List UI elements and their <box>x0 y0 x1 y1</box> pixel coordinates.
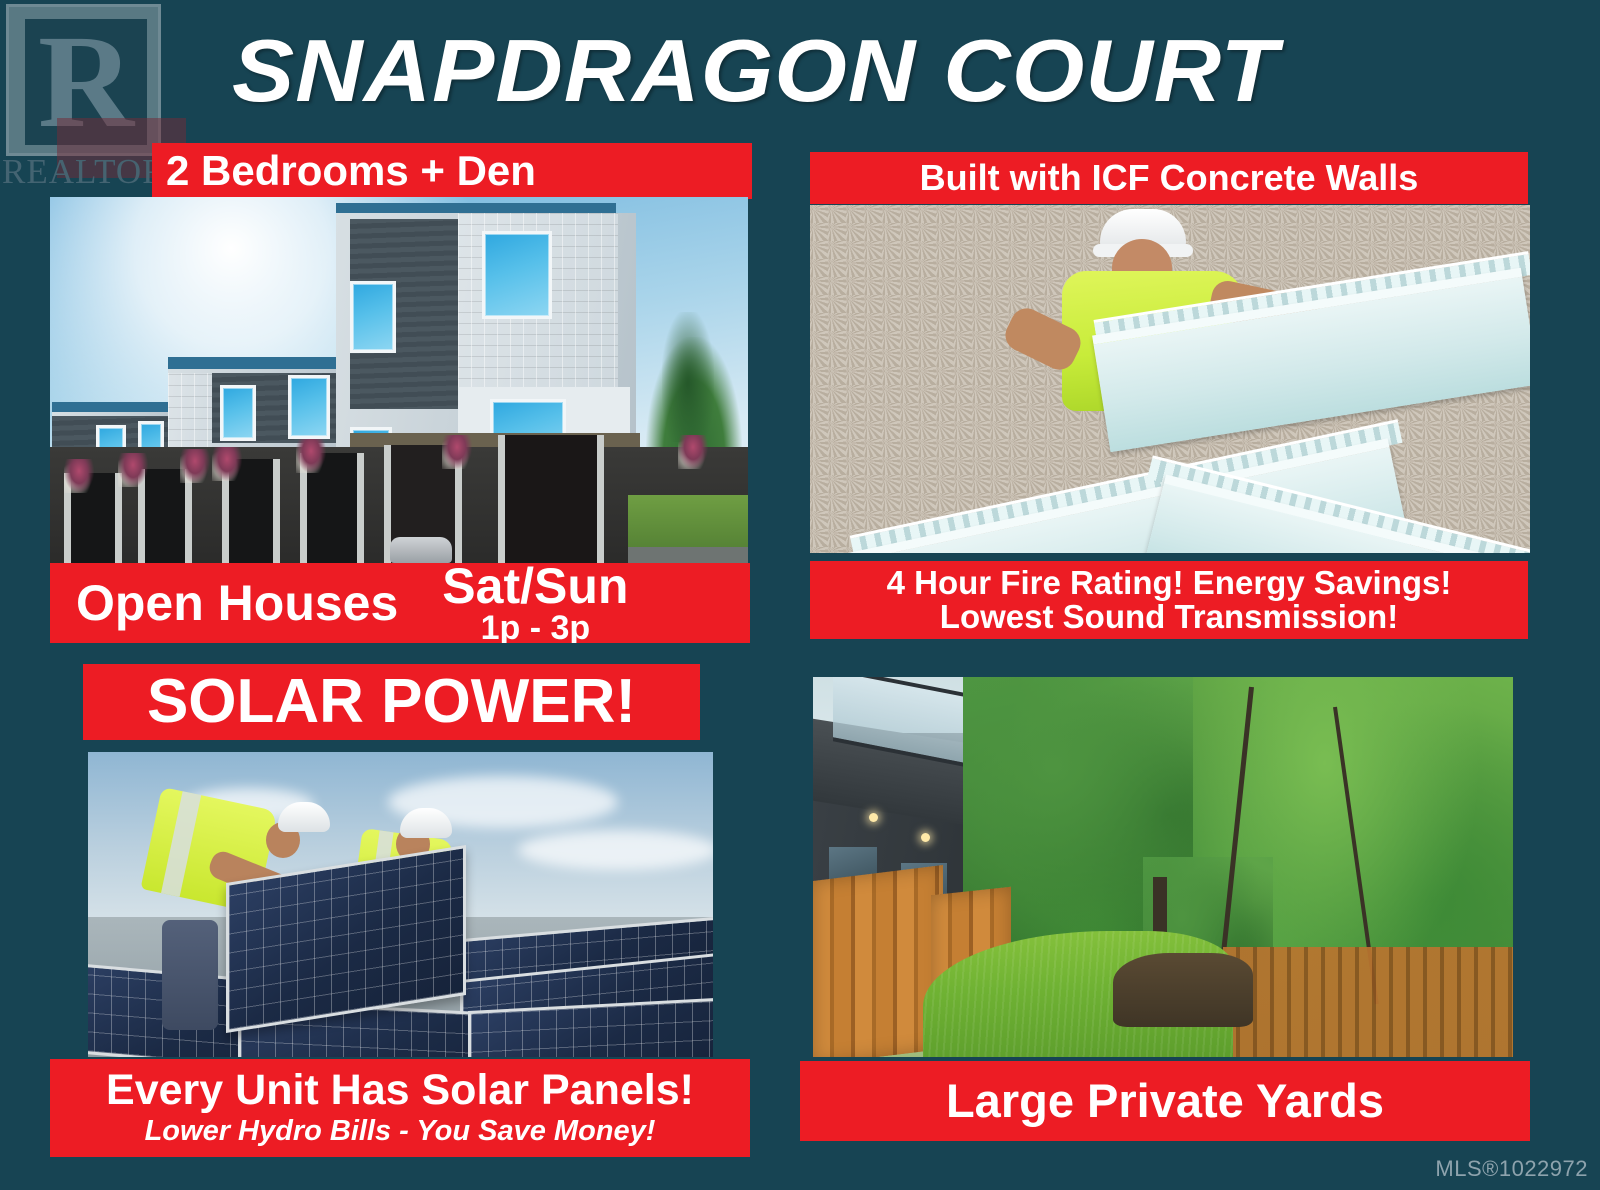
realtor-r-letter: R <box>25 19 147 145</box>
banner-solar-power: SOLAR POWER! <box>83 664 700 740</box>
photo-icf-construction <box>810 205 1530 553</box>
open-houses-label: Open Houses <box>76 578 398 629</box>
listing-poster: R REALTOR® SNAPDRAGON COURT 2 Bedrooms +… <box>0 0 1600 1190</box>
open-house-schedule: Sat/Sun 1p - 3p <box>442 563 628 643</box>
flower-basket <box>442 435 472 469</box>
garage-door-open <box>498 435 604 565</box>
page-title: SNAPDRAGON COURT <box>232 17 1419 127</box>
banner-solar-benefits: Every Unit Has Solar Panels! Lower Hydro… <box>50 1059 750 1157</box>
banner-open-houses: Open Houses Sat/Sun 1p - 3p <box>50 563 750 643</box>
icf-benefit-line1: 4 Hour Fire Rating! Energy Savings! <box>887 566 1452 600</box>
cedar-fence-right <box>1223 947 1513 1057</box>
soffit-light <box>921 833 930 842</box>
flower-basket <box>64 459 94 493</box>
photo-private-yard <box>813 677 1513 1057</box>
banner-private-yards: Large Private Yards <box>800 1061 1530 1141</box>
flower-basket <box>212 447 242 481</box>
banner-icf-benefits: 4 Hour Fire Rating! Energy Savings! Lowe… <box>810 561 1528 639</box>
banner-bedrooms: 2 Bedrooms + Den <box>152 143 752 199</box>
realtor-logo-box: R <box>6 4 161 156</box>
flower-basket <box>296 439 326 473</box>
tree-back <box>662 312 714 442</box>
photo-townhouse <box>50 197 748 565</box>
cloud <box>518 830 713 870</box>
flower-basket <box>180 449 210 483</box>
solar-benefit-line2: Lower Hydro Bills - You Save Money! <box>145 1117 656 1147</box>
flower-basket <box>118 453 148 487</box>
open-house-days: Sat/Sun <box>442 563 628 611</box>
flower-basket <box>678 435 708 469</box>
parked-car <box>390 537 452 563</box>
banner-icf: Built with ICF Concrete Walls <box>810 152 1528 204</box>
worker-legs <box>162 920 218 1030</box>
window <box>350 281 396 353</box>
open-house-time: 1p - 3p <box>442 611 628 643</box>
realtor-wordmark-text: REALTOR <box>2 152 167 191</box>
window <box>482 231 552 319</box>
soffit-light <box>869 813 878 822</box>
window <box>288 375 330 439</box>
mls-number: MLS®1022972 <box>1435 1156 1588 1182</box>
solar-benefit-line1: Every Unit Has Solar Panels! <box>106 1069 694 1113</box>
realtor-logo-inner <box>25 19 147 145</box>
window <box>220 385 256 441</box>
garden-bed <box>1113 953 1253 1027</box>
icf-benefit-line2: Lowest Sound Transmission! <box>940 600 1398 634</box>
photo-solar-install <box>88 752 713 1057</box>
